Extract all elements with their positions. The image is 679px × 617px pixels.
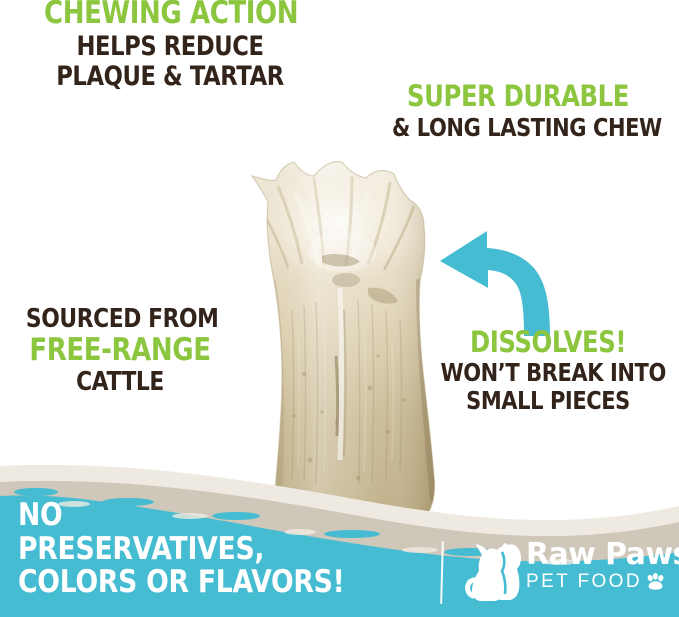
infographic-canvas: CHEWING ACTION HELPS REDUCE PLAQUE & TAR… [0, 0, 679, 617]
logo-tagline: PET FOOD [526, 572, 642, 591]
callout-chewing-line2: HELPS REDUCE [44, 33, 296, 60]
callout-chewing-line1: CHEWING ACTION [44, 0, 296, 29]
callout-sourced-free-range: SOURCED FROM FREE-RANGE CATTLE [8, 306, 232, 395]
callout-durable-line1: SUPER DURABLE [392, 82, 644, 111]
callout-durable-line2: & LONG LASTING CHEW [392, 115, 644, 140]
banner-line1: NO [18, 500, 345, 532]
dog-and-cat-silhouette-icon [464, 538, 530, 602]
callout-sourced-line2: FREE-RANGE [26, 335, 214, 366]
callout-chewing-action: CHEWING ACTION HELPS REDUCE PLAQUE & TAR… [20, 0, 320, 90]
paw-print-icon [646, 573, 665, 590]
callout-dissolves-line2: WON’T BREAK INTO [440, 360, 655, 385]
callout-dissolves-line3: SMALL PIECES [440, 388, 655, 413]
raw-paws-logo[interactable]: Raw Paws® PET FOOD [464, 536, 669, 608]
banner-line2: PRESERVATIVES, [18, 534, 345, 566]
banner-line3: COLORS OR FLAVORS! [18, 567, 345, 599]
banner-headline: NO PRESERVATIVES, COLORS OR FLAVORS! [18, 500, 345, 599]
logo-wordmark: Raw Paws® PET FOOD [526, 540, 672, 591]
logo-brand: Raw Paws [526, 537, 679, 572]
callout-sourced-line1: SOURCED FROM [26, 306, 214, 332]
callout-dissolves-line1: DISSOLVES! [440, 328, 655, 357]
callout-super-durable: SUPER DURABLE & LONG LASTING CHEW [368, 82, 668, 140]
callout-dissolves: DISSOLVES! WON’T BREAK INTO SMALL PIECES [420, 328, 676, 413]
curved-arrow-pointing-left [438, 228, 588, 338]
callout-chewing-line3: PLAQUE & TARTAR [44, 63, 296, 90]
callout-sourced-line3: CATTLE [26, 369, 214, 395]
